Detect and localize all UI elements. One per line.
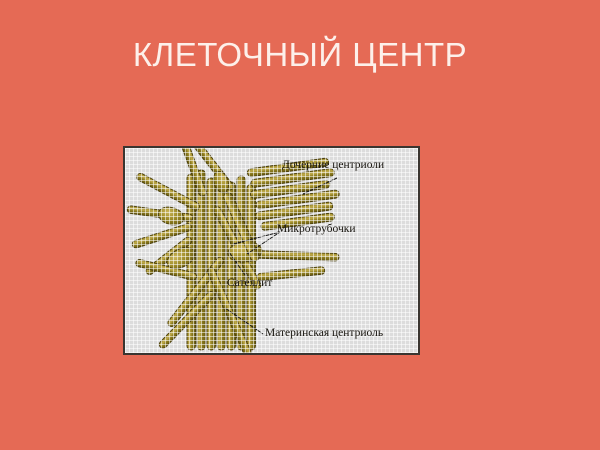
cell-center-diagram [125, 148, 418, 353]
page-title: КЛЕТОЧНЫЙ ЦЕНТР [0, 36, 600, 74]
presentation-slide: КЛЕТОЧНЫЙ ЦЕНТР [0, 0, 600, 450]
label-mother-centriole: Материнская центриоль [265, 328, 383, 340]
label-satellite: Сателлит [227, 278, 272, 290]
label-daughter-centrioles: Дочерние центриоли [282, 160, 384, 172]
label-microtubules: Микротрубочки [277, 224, 356, 236]
diagram-figure: Дочерние центриоли Микротрубочки Сателли… [123, 146, 420, 355]
